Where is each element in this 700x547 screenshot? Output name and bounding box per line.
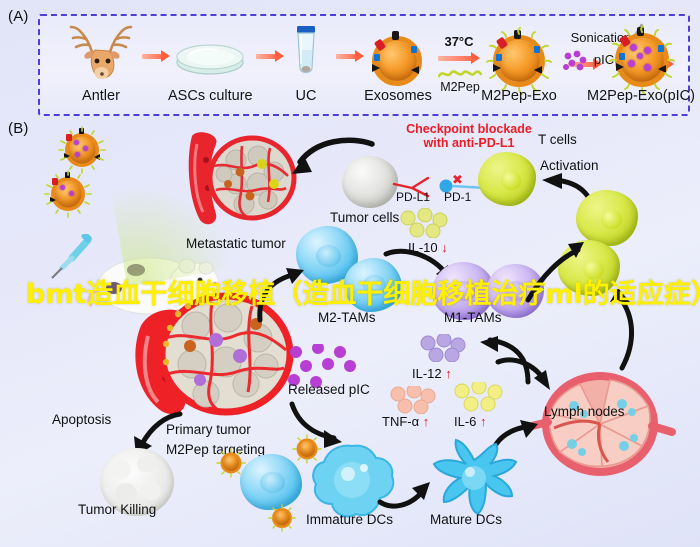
label-lymph-nodes: Lymph nodes <box>544 404 625 419</box>
label-pd-1: PD-1 <box>444 190 471 204</box>
arrow-pic-to-dc <box>288 400 344 450</box>
panel-a-label-exosomes: Exosomes <box>360 88 436 104</box>
panel-a-container: Antler ASCs culture UC <box>38 14 690 116</box>
panel-a-tag: (A) <box>8 8 29 25</box>
process-arrow-3 <box>336 52 364 61</box>
cytokine-tnf-alpha-name: TNF-α <box>382 414 419 429</box>
label-apoptosis: Apoptosis <box>52 412 111 427</box>
panel-a-label-uc: UC <box>280 88 332 104</box>
panel-a-label-m2pep-exo-pic: M2Pep-Exo(pIC) <box>574 88 700 104</box>
mature-dc-icon <box>424 430 526 522</box>
arrow-tumor-to-m2tam <box>254 266 310 324</box>
arrow-m1-to-tcell <box>520 236 590 306</box>
panel-a-label-m2pep-exo: M2Pep-Exo <box>468 88 570 104</box>
label-tumor-killing: Tumor Killing <box>78 502 156 517</box>
label-metastatic-tumor: Metastatic tumor <box>186 236 286 251</box>
t-cell-icon-1 <box>478 152 536 206</box>
cytokine-il-12-name: IL-12 <box>412 366 442 381</box>
label-pd-l1: PD-L1 <box>396 190 430 204</box>
checkpoint-line-2: with anti-PD-L1 <box>374 136 564 150</box>
exosome-peptide-icon <box>484 26 554 96</box>
process-arrow-4 <box>438 54 480 63</box>
targeting-nanoparticle-3 <box>268 504 296 532</box>
process-arrow-1 <box>142 52 170 61</box>
targeting-nanoparticle-1 <box>216 448 246 478</box>
arrow-lymph-to-tcells <box>596 288 652 374</box>
cytokine-dots-peach <box>388 386 440 414</box>
label-immature-dcs: Immature DCs <box>306 512 393 527</box>
scientific-figure: (A) Antler <box>0 0 700 547</box>
panel-a-label-ascs: ASCs culture <box>168 88 252 104</box>
deer-icon <box>62 22 140 84</box>
centrifuge-tube-icon <box>290 24 322 84</box>
nanoparticle-icon-2 <box>44 170 92 218</box>
checkpoint-blockade-text: Checkpoint blockade with anti-PD-L1 <box>374 122 564 150</box>
cytokine-il-12-arrow: ↑ <box>445 366 452 381</box>
pic-cluster-icon <box>562 50 588 72</box>
panel-a-label-antler: Antler <box>64 88 138 104</box>
metastatic-tumor-icon <box>184 128 298 232</box>
m2pep-peptide-icon <box>438 68 482 80</box>
tumor-cell-icon <box>342 156 398 208</box>
checkpoint-line-1: Checkpoint blockade <box>374 122 564 136</box>
lymph-node-icon <box>522 366 678 486</box>
cytokine-dots-yellow-1 <box>398 208 454 238</box>
process-arrow-2 <box>256 52 284 61</box>
m2-tam-cell-icon-2 <box>344 258 402 312</box>
label-m1-tams: M1-TAMs <box>444 310 502 325</box>
label-released-pic: Released pIC <box>288 382 370 397</box>
petri-dish-icon <box>173 36 247 80</box>
panel-b-container: Metastatic tumor Checkpoint blockade wit… <box>0 118 700 547</box>
cytokine-tnf-alpha-arrow: ↑ <box>423 414 430 429</box>
cytokine-il-6-name: IL-6 <box>454 414 476 429</box>
cytokine-il-12: IL-12 ↑ <box>412 366 452 381</box>
label-mature-dcs: Mature DCs <box>430 512 502 527</box>
label-tumor-cells: Tumor cells <box>330 210 399 225</box>
nanoparticle-icon-1 <box>58 126 106 174</box>
cytokine-il-6: IL-6 ↑ <box>454 414 487 429</box>
blockade-x-mark: ✖ <box>452 172 463 188</box>
cytokine-tnf-alpha: TNF-α ↑ <box>382 414 429 429</box>
label-t-cells: T cells <box>538 132 577 147</box>
label-m2-tams: M2-TAMs <box>318 310 376 325</box>
exosome-icon <box>366 30 428 92</box>
exosome-pic-final-icon <box>606 24 678 96</box>
cytokine-dots-purple <box>418 334 470 362</box>
panel-a-temperature: 37°C <box>438 34 480 49</box>
